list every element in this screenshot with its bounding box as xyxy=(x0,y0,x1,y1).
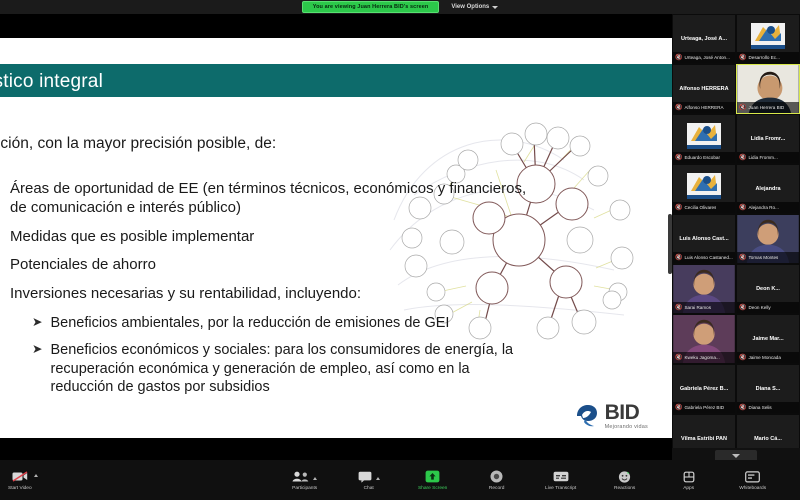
mic-muted-icon: 🔇 xyxy=(675,255,682,261)
participant-namebar: 🔇Gabriela Pérez BID xyxy=(673,402,735,413)
participant-tile[interactable]: Alejandra🔇Alejandra Ro... xyxy=(736,164,800,214)
participant-tile[interactable]: Diana S...🔇Diana Selis xyxy=(736,364,800,414)
toolbar-participants-button[interactable]: Participants xyxy=(282,469,328,491)
participant-name-label: Luis Alonso Castaned... xyxy=(684,255,732,260)
toolbar-item-label: Whiteboards xyxy=(739,486,766,491)
participant-namebar: 🔇Deon Kelly xyxy=(737,302,799,313)
participant-namebar: 🔇Jaime Moncada xyxy=(737,352,799,363)
participant-tile[interactable]: Luis Alonso Cast...🔇Luis Alonso Castaned… xyxy=(672,214,736,264)
chevron-down-icon xyxy=(492,6,498,9)
arrow-bullet-icon: ➤ xyxy=(32,314,42,333)
participant-name-label: Kweku Jagoma... xyxy=(684,355,719,360)
mic-muted-icon: 🔇 xyxy=(675,155,682,161)
caret-up-icon[interactable] xyxy=(34,474,38,477)
whiteboards-icon xyxy=(745,469,760,484)
gallery-row: 🔇Sarai RamosDeon K...🔇Deon Kelly xyxy=(672,264,800,314)
gallery-row: 🔇Cecilia OlivaresAlejandra🔇Alejandra Ro.… xyxy=(672,164,800,214)
gallery-row: Urteaga, José A...🔇Urteaga, José Anton..… xyxy=(672,14,800,64)
chevron-down-icon xyxy=(732,454,740,458)
share-screen-icon xyxy=(425,469,440,484)
participant-namebar: 🔇Desarrollo Ec... xyxy=(737,52,799,63)
participant-tile[interactable]: Alfonso HERRERA🔇Alfonso HERRERA xyxy=(672,64,736,114)
video-off-icon xyxy=(12,469,28,484)
bid-mark-icon xyxy=(574,403,600,429)
participant-name-label: Urteaga, José Anton... xyxy=(684,55,729,60)
participant-name-label: Lidia Fromm... xyxy=(748,155,777,160)
reactions-icon xyxy=(618,469,631,484)
screen-share-banner: You are viewing Juan Herrera BID's scree… xyxy=(0,0,800,14)
participant-tile[interactable]: 🔇Desarrollo Ec... xyxy=(736,14,800,64)
gallery-row: Gabriela Pérez B...🔇Gabriela Pérez BIDDi… xyxy=(672,364,800,414)
toolbar-item-label: Apps xyxy=(683,486,694,491)
slide-lead-text: efinición, con la mayor precisión posibl… xyxy=(0,135,276,153)
apps-icon xyxy=(683,469,695,484)
toolbar-item-label: Record xyxy=(489,486,504,491)
participant-namebar: 🔇Alejandra Ro... xyxy=(737,202,799,213)
participant-name-label: Juan Herrera BID xyxy=(748,105,784,110)
start-video-button[interactable]: Start Video xyxy=(8,469,38,491)
meeting-toolbar: Start Video ParticipantsChatShare Screen… xyxy=(0,460,800,500)
toolbar-chat-button[interactable]: Chat xyxy=(346,469,392,491)
participant-name-label: Alejandra Ro... xyxy=(748,205,778,210)
participant-namebar: 🔇Juan Herrera BID xyxy=(737,102,799,113)
bid-wordmark: BID xyxy=(605,402,648,423)
mic-muted-icon: 🔇 xyxy=(739,355,746,361)
participant-tile[interactable]: 🔇Eduardo Escobar xyxy=(672,114,736,164)
bid-logo: BID Mejorando vidas xyxy=(574,402,648,431)
zoom-meeting-window: You are viewing Juan Herrera BID's scree… xyxy=(0,0,800,500)
toolbar-item-label: Reactions xyxy=(614,486,635,491)
toolbar-item-label: Live Transcript xyxy=(545,486,576,491)
participant-namebar: 🔇Lidia Fromm... xyxy=(737,152,799,163)
mic-muted-icon: 🔇 xyxy=(739,205,746,211)
list-item: ➤ Beneficios económicos y sociales: para… xyxy=(32,341,530,397)
participant-namebar: 🔇Kweku Jagoma... xyxy=(673,352,735,363)
participant-namebar: 🔇Sarai Ramos xyxy=(673,302,735,313)
toolbar-reactions-button[interactable]: Reactions xyxy=(602,469,648,491)
mic-muted-icon: 🔇 xyxy=(739,155,746,161)
gallery-row: 🔇Eduardo EscobarLidia Fromr...🔇Lidia Fro… xyxy=(672,114,800,164)
participant-namebar: 🔇Diana Selis xyxy=(737,402,799,413)
shared-screen-viewport[interactable]: nóstico integral xyxy=(0,14,672,460)
live-transcript-icon xyxy=(553,469,569,484)
toolbar-record-button[interactable]: Record xyxy=(474,469,520,491)
toolbar-left-group: Start Video xyxy=(8,469,38,491)
page-title: nóstico integral xyxy=(0,71,103,93)
toolbar-item-label: Participants xyxy=(292,486,317,491)
participant-tile[interactable]: 🔇Kweku Jagoma... xyxy=(672,314,736,364)
participant-name-label: Tomas Montes xyxy=(748,255,778,260)
list-item: Potenciales de ahorro xyxy=(10,256,530,275)
list-item: ➤ Beneficios ambientales, por la reducci… xyxy=(32,314,530,333)
participant-namebar: 🔇Luis Alonso Castaned... xyxy=(673,252,735,263)
mic-muted-icon: 🔇 xyxy=(675,305,682,311)
record-icon xyxy=(490,469,503,484)
toolbar-item-label: Chat xyxy=(364,486,374,491)
participant-name-label: Eduardo Escobar xyxy=(684,155,720,160)
participant-tile[interactable]: 🔇Tomas Montes xyxy=(736,214,800,264)
participant-tile[interactable]: 🔇Cecilia Olivares xyxy=(672,164,736,214)
participant-name-label: Deon Kelly xyxy=(748,305,770,310)
participant-name-label: Alfonso HERRERA xyxy=(684,105,723,110)
mic-muted-icon: 🔇 xyxy=(739,255,746,261)
sub-bullet-text: Beneficios económicos y sociales: para l… xyxy=(50,341,530,397)
viewing-notice: You are viewing Juan Herrera BID's scree… xyxy=(302,1,440,13)
participant-name-label: Cecilia Olivares xyxy=(684,205,716,210)
participant-tile[interactable]: Deon K...🔇Deon Kelly xyxy=(736,264,800,314)
participant-namebar: 🔇Alfonso HERRERA xyxy=(673,102,735,113)
toolbar-whiteboards-button[interactable]: Whiteboards xyxy=(730,469,776,491)
mic-muted-icon: 🔇 xyxy=(739,305,746,311)
participant-tile[interactable]: Lidia Fromr...🔇Lidia Fromm... xyxy=(736,114,800,164)
gallery-row: 🔇Kweku Jagoma...Jaime Mar...🔇Jaime Monca… xyxy=(672,314,800,364)
participant-name-label: Gabriela Pérez BID xyxy=(684,405,724,410)
participant-tile[interactable]: 🔇Juan Herrera BID xyxy=(736,64,800,114)
caret-up-icon[interactable] xyxy=(313,477,317,480)
toolbar-share-screen-button[interactable]: Share Screen xyxy=(410,469,456,491)
list-item: Inversiones necesarias y su rentabilidad… xyxy=(10,285,530,304)
mic-muted-icon: 🔇 xyxy=(739,55,746,61)
mic-muted-icon: 🔇 xyxy=(739,405,746,411)
participants-gallery[interactable]: Urteaga, José A...🔇Urteaga, José Anton..… xyxy=(672,14,800,460)
participant-namebar: 🔇Tomas Montes xyxy=(737,252,799,263)
participants-icon xyxy=(292,469,317,484)
participant-name-label: Desarrollo Ec... xyxy=(748,55,779,60)
mic-muted-icon: 🔇 xyxy=(739,105,746,111)
participant-name-label: Sarai Ramos xyxy=(684,305,711,310)
caret-up-icon[interactable] xyxy=(376,477,380,480)
participant-tile[interactable]: Urteaga, José A...🔇Urteaga, José Anton..… xyxy=(672,14,736,64)
gallery-row: Luis Alonso Cast...🔇Luis Alonso Castaned… xyxy=(672,214,800,264)
list-item: Medidas que es posible implementar xyxy=(10,228,530,247)
presentation-slide: nóstico integral xyxy=(0,38,672,438)
gallery-row: Alfonso HERRERA🔇Alfonso HERRERA🔇Juan Her… xyxy=(672,64,800,114)
view-options-button[interactable]: View Options xyxy=(451,4,498,10)
participant-tile[interactable]: 🔇Sarai Ramos xyxy=(672,264,736,314)
participant-name-label: Jaime Moncada xyxy=(748,355,780,360)
participant-namebar: 🔇Eduardo Escobar xyxy=(673,152,735,163)
mic-muted-icon: 🔇 xyxy=(675,105,682,111)
participant-name-label: Diana Selis xyxy=(748,405,771,410)
sub-bullet-text: Beneficios ambientales, por la reducción… xyxy=(50,314,449,333)
view-options-label: View Options xyxy=(451,4,489,10)
mic-muted-icon: 🔇 xyxy=(675,355,682,361)
toolbar-live-transcript-button[interactable]: Live Transcript xyxy=(538,469,584,491)
arrow-bullet-icon: ➤ xyxy=(32,341,42,397)
participant-tile[interactable]: Gabriela Pérez B...🔇Gabriela Pérez BID xyxy=(672,364,736,414)
slide-bullet-list: Áreas de oportunidad de EE (en términos … xyxy=(10,180,530,406)
toolbar-apps-button[interactable]: Apps xyxy=(666,469,712,491)
toolbar-item-label: Share Screen xyxy=(418,486,447,491)
participant-namebar: 🔇Cecilia Olivares xyxy=(673,202,735,213)
toolbar-center-group: ParticipantsChatShare ScreenRecordLive T… xyxy=(282,469,776,491)
participant-namebar: 🔇Urteaga, José Anton... xyxy=(673,52,735,63)
bid-tagline: Mejorando vidas xyxy=(605,425,648,431)
list-item: Áreas de oportunidad de EE (en términos … xyxy=(10,180,530,218)
mic-muted-icon: 🔇 xyxy=(675,205,682,211)
chat-icon xyxy=(358,469,380,484)
mic-muted-icon: 🔇 xyxy=(675,405,682,411)
mic-muted-icon: 🔇 xyxy=(675,55,682,61)
start-video-label: Start Video xyxy=(8,486,32,491)
participant-tile[interactable]: Jaime Mar...🔇Jaime Moncada xyxy=(736,314,800,364)
